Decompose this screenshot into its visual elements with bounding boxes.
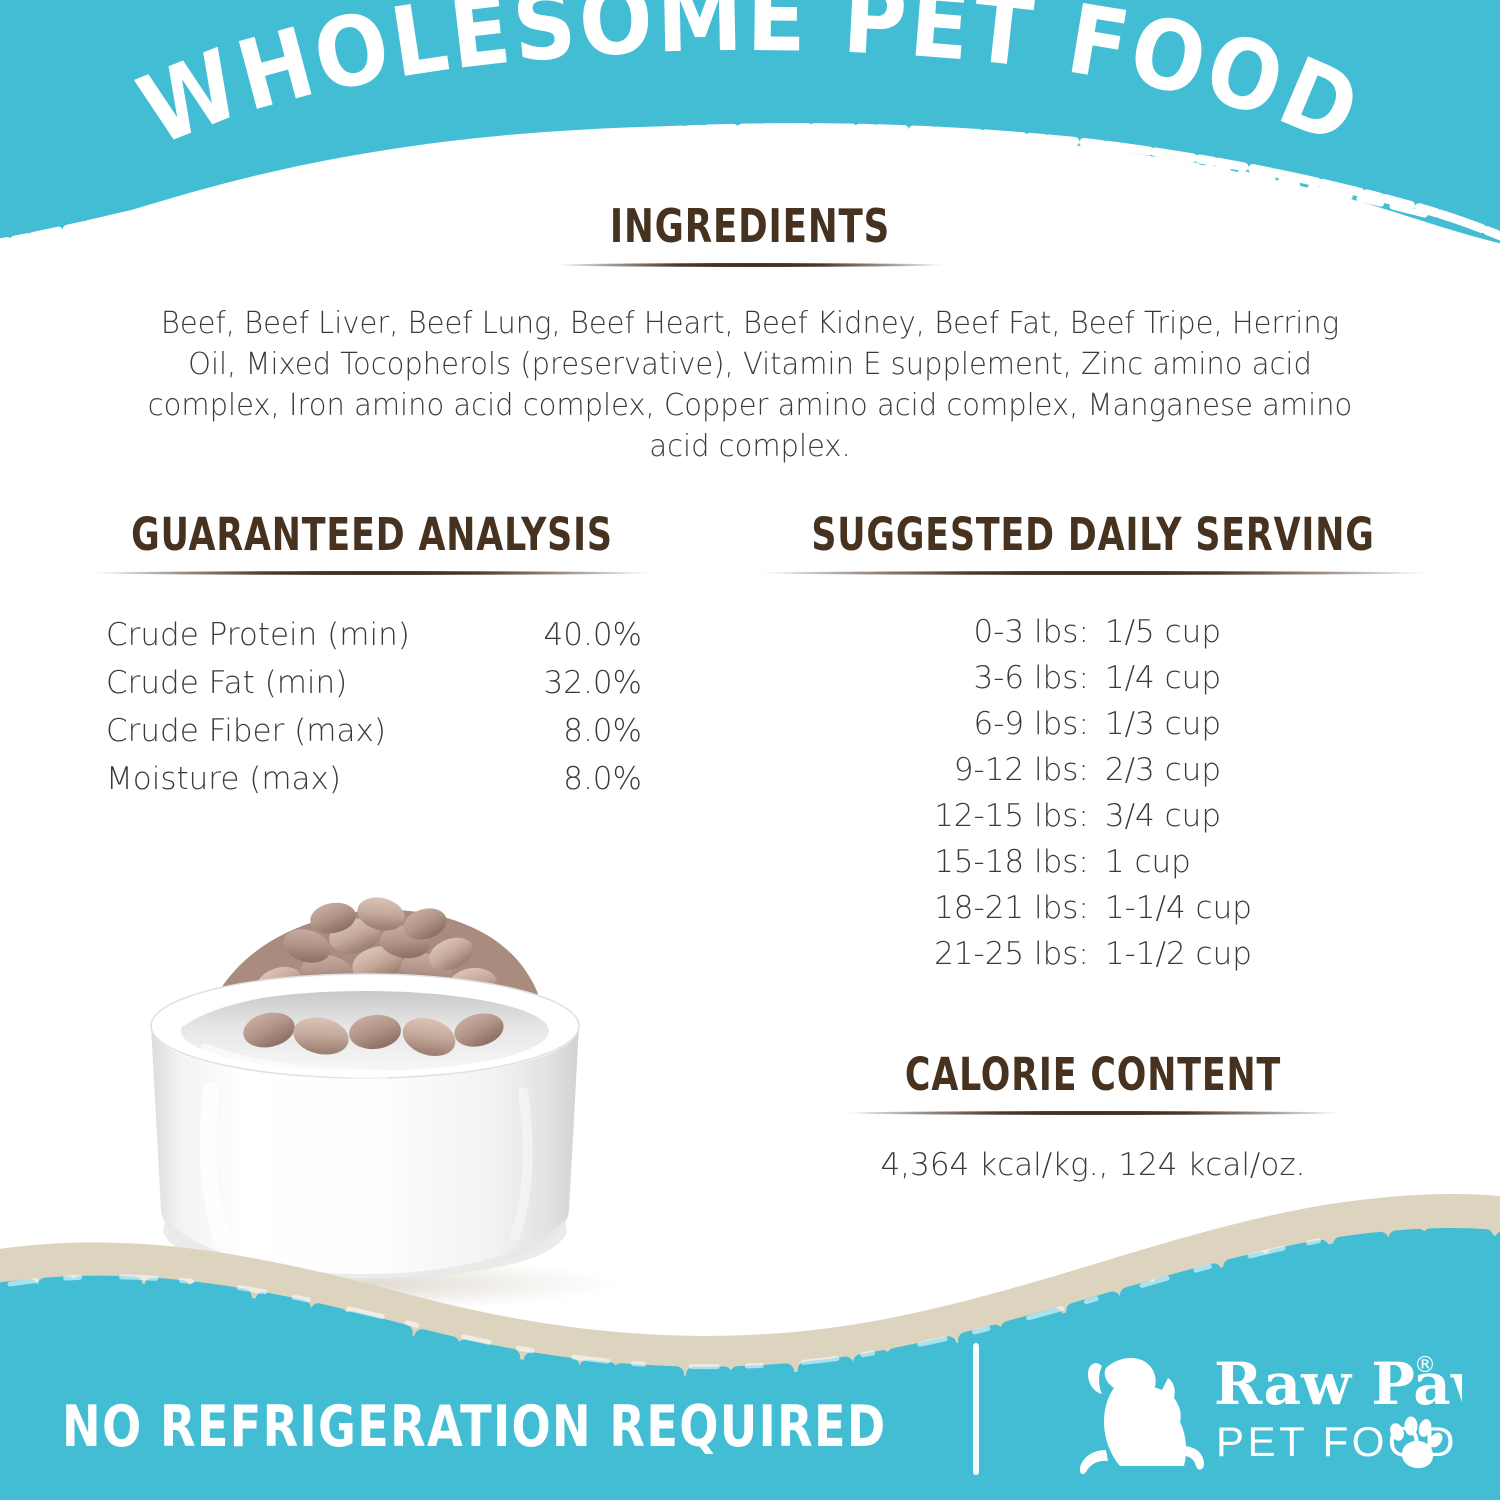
serving-amount: 1/5 cup	[1105, 609, 1252, 655]
dog-and-cat-silhouette-icon	[1080, 1358, 1204, 1474]
nutrient-label: Moisture (max)	[62, 755, 514, 803]
calorie-content-divider-rule	[843, 1107, 1343, 1117]
table-row: 6-9 lbs: 1/3 cup	[934, 701, 1252, 747]
calorie-content-section: CALORIE CONTENT 4,364 kcal/kg., 124 kcal…	[748, 1052, 1438, 1183]
serving-weight-range: 9-12 lbs:	[934, 747, 1105, 793]
table-row: 9-12 lbs: 2/3 cup	[934, 747, 1252, 793]
serving-amount: 1-1/2 cup	[1105, 931, 1252, 977]
ingredients-heading: INGREDIENTS	[105, 203, 1395, 249]
table-row: 12-15 lbs: 3/4 cup	[934, 793, 1252, 839]
table-row: Moisture (max) 8.0%	[62, 755, 642, 803]
nutrient-label: Crude Protein (min)	[62, 611, 514, 659]
ingredients-body-text: Beef, Beef Liver, Beef Lung, Beef Heart,…	[137, 303, 1363, 467]
table-row: Crude Fat (min) 32.0%	[62, 659, 642, 707]
serving-weight-range: 15-18 lbs:	[934, 839, 1105, 885]
brand-logo: Raw Paws ® PET FOOD	[1062, 1342, 1462, 1482]
serving-amount: 1/3 cup	[1105, 701, 1252, 747]
serving-table: 0-3 lbs: 1/5 cup 3-6 lbs: 1/4 cup 6-9 lb…	[934, 609, 1252, 977]
serving-weight-range: 6-9 lbs:	[934, 701, 1105, 747]
nutrient-label: Crude Fat (min)	[62, 659, 514, 707]
serving-amount: 1-1/4 cup	[1105, 885, 1252, 931]
suggested-daily-serving-heading: SUGGESTED DAILY SERVING	[796, 512, 1389, 557]
guaranteed-analysis-heading: GUARANTEED ANALYSIS	[105, 512, 638, 557]
serving-weight-range: 21-25 lbs:	[934, 931, 1105, 977]
ingredients-divider-rule	[555, 259, 945, 269]
nutrient-label: Crude Fiber (max)	[62, 707, 514, 755]
nutrient-value: 8.0%	[514, 707, 642, 755]
table-row: 18-21 lbs: 1-1/4 cup	[934, 885, 1252, 931]
serving-amount: 1/4 cup	[1105, 655, 1252, 701]
calorie-content-heading: CALORIE CONTENT	[796, 1052, 1389, 1097]
serving-amount: 3/4 cup	[1105, 793, 1252, 839]
table-row: Crude Protein (min) 40.0%	[62, 611, 642, 659]
table-row: 3-6 lbs: 1/4 cup	[934, 655, 1252, 701]
suggested-daily-serving-section: SUGGESTED DAILY SERVING 0-3 lbs: 1/5 cup…	[748, 512, 1438, 977]
guaranteed-analysis-section: GUARANTEED ANALYSIS Crude Protein (min) …	[62, 512, 682, 803]
pet-food-label: WHOLESOME PET FOOD INGREDIENTS Beef, Bee…	[0, 0, 1500, 1500]
registered-trademark-symbol: ®	[1414, 1353, 1436, 1378]
footer-vertical-divider	[973, 1343, 979, 1475]
table-row: Crude Fiber (max) 8.0%	[62, 707, 642, 755]
serving-weight-range: 18-21 lbs:	[934, 885, 1105, 931]
table-row: 21-25 lbs: 1-1/2 cup	[934, 931, 1252, 977]
serving-weight-range: 3-6 lbs:	[934, 655, 1105, 701]
nutrient-value: 8.0%	[514, 755, 642, 803]
ingredients-section: INGREDIENTS Beef, Beef Liver, Beef Lung,…	[0, 203, 1500, 467]
guaranteed-analysis-divider-rule	[92, 567, 652, 577]
nutrient-value: 40.0%	[514, 611, 642, 659]
table-row: 15-18 lbs: 1 cup	[934, 839, 1252, 885]
serving-weight-range: 12-15 lbs:	[934, 793, 1105, 839]
no-refrigeration-claim: NO REFRIGERATION REQUIRED	[62, 1394, 887, 1460]
serving-weight-range: 0-3 lbs:	[934, 609, 1105, 655]
table-row: 0-3 lbs: 1/5 cup	[934, 609, 1252, 655]
serving-amount: 1 cup	[1105, 839, 1252, 885]
calorie-content-value: 4,364 kcal/kg., 124 kcal/oz.	[748, 1147, 1438, 1183]
footer-content: NO REFRIGERATION REQUIRED Raw Paws ® PET…	[0, 1300, 1500, 1500]
serving-amount: 2/3 cup	[1105, 747, 1252, 793]
nutrient-value: 32.0%	[514, 659, 642, 707]
guaranteed-analysis-table: Crude Protein (min) 40.0% Crude Fat (min…	[62, 611, 642, 803]
suggested-daily-serving-divider-rule	[757, 567, 1429, 577]
